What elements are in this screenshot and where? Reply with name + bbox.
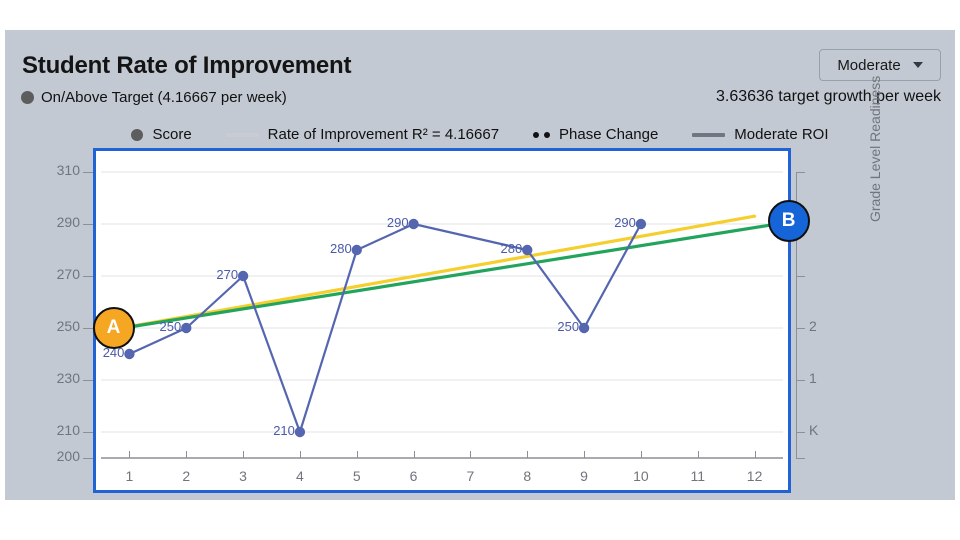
x-axis-tick-label: 7 (450, 468, 490, 484)
chart-canvas (96, 151, 788, 490)
y2-axis-title: Grade Level Readiness (867, 76, 883, 222)
y2-axis-tick-label: K (809, 422, 818, 438)
x-axis-tick-label: 12 (735, 468, 775, 484)
x-axis-tick-mark (698, 451, 699, 458)
x-axis-tick-label: 9 (564, 468, 604, 484)
data-point-label: 270 (208, 267, 238, 282)
x-axis-tick-label: 1 (109, 468, 149, 484)
roi-level-dropdown-value: Moderate (837, 57, 900, 74)
x-axis-tick-mark (414, 451, 415, 458)
y2-axis-tick-mark (796, 380, 805, 381)
data-point-label: 250 (549, 319, 579, 334)
legend-label: Moderate ROI (734, 126, 828, 143)
x-axis-tick-mark (243, 451, 244, 458)
y-axis-tick-label: 200 (28, 448, 80, 464)
y-axis-tick-mark (83, 380, 93, 381)
y2-axis-tick-label: 2 (809, 318, 817, 334)
legend-line-icon (226, 133, 259, 137)
status-label: On/Above Target (4.16667 per week) (41, 89, 287, 106)
y2-axis-tick-mark (796, 432, 805, 433)
x-axis-tick-mark (584, 451, 585, 458)
target-growth-label: 3.63636 target growth per week (716, 88, 941, 106)
data-point-label: 250 (151, 319, 181, 334)
x-axis-tick-mark (641, 451, 642, 458)
legend-dot-icon (131, 129, 143, 141)
x-axis-tick-mark (527, 451, 528, 458)
status-dot-icon (21, 91, 34, 104)
y-axis-tick-label: 270 (28, 266, 80, 282)
data-point-label: 280 (492, 241, 522, 256)
y-axis-tick-label: 230 (28, 370, 80, 386)
data-point-label: 280 (322, 241, 352, 256)
annotation-badge-b[interactable]: B (768, 200, 810, 242)
annotation-badge-a[interactable]: A (93, 307, 135, 349)
legend-item-phase-change[interactable]: Phase Change (533, 126, 658, 143)
legend-label: Score (152, 126, 191, 143)
screen: Student Rate of Improvement On/Above Tar… (0, 0, 960, 540)
legend-label: Phase Change (559, 126, 658, 143)
x-axis-tick-mark (470, 451, 471, 458)
x-axis-tick-label: 2 (166, 468, 206, 484)
y-axis-tick-mark (83, 458, 93, 459)
y-axis-tick-label: 250 (28, 318, 80, 334)
data-point-label: 210 (265, 423, 295, 438)
y-axis-tick-label: 310 (28, 162, 80, 178)
y2-axis-tick-mark (796, 172, 805, 173)
data-point-label: 290 (606, 215, 636, 230)
x-axis-tick-label: 4 (280, 468, 320, 484)
chart-legend: Score Rate of Improvement R² = 4.16667 P… (5, 126, 955, 143)
chart-plot-area[interactable] (93, 148, 791, 493)
x-axis-tick-mark (186, 451, 187, 458)
x-axis-tick-label: 6 (394, 468, 434, 484)
y2-axis-tick-mark (796, 458, 805, 459)
page-title: Student Rate of Improvement (22, 52, 351, 80)
y-axis-tick-mark (83, 224, 93, 225)
y-axis-tick-mark (83, 432, 93, 433)
legend-line-icon (692, 133, 725, 137)
y-axis-tick-mark (83, 276, 93, 277)
legend-label: Rate of Improvement R² = 4.16667 (268, 126, 499, 143)
y2-axis-tick-mark (796, 276, 805, 277)
legend-dotted-icon (533, 132, 550, 138)
y-axis-tick-label: 210 (28, 422, 80, 438)
x-axis-tick-label: 5 (337, 468, 377, 484)
data-point-label: 290 (379, 215, 409, 230)
legend-item-rate-of-improvement[interactable]: Rate of Improvement R² = 4.16667 (226, 126, 499, 143)
chevron-down-icon (913, 62, 923, 68)
x-axis-tick-mark (129, 451, 130, 458)
y2-axis-tick-mark (796, 328, 805, 329)
y-axis-tick-mark (83, 328, 93, 329)
y-axis-tick-label: 290 (28, 214, 80, 230)
x-axis-tick-label: 11 (678, 468, 718, 484)
status-badge: On/Above Target (4.16667 per week) (21, 89, 287, 106)
x-axis-tick-mark (357, 451, 358, 458)
x-axis-tick-mark (755, 451, 756, 458)
y2-axis-tick-label: 1 (809, 370, 817, 386)
x-axis-tick-label: 10 (621, 468, 661, 484)
roi-chart-card: Student Rate of Improvement On/Above Tar… (5, 30, 955, 500)
y-axis-tick-mark (83, 172, 93, 173)
legend-item-moderate-roi[interactable]: Moderate ROI (692, 126, 828, 143)
x-axis-tick-label: 8 (507, 468, 547, 484)
x-axis-tick-mark (300, 451, 301, 458)
x-axis-tick-label: 3 (223, 468, 263, 484)
legend-item-score[interactable]: Score (131, 126, 191, 143)
